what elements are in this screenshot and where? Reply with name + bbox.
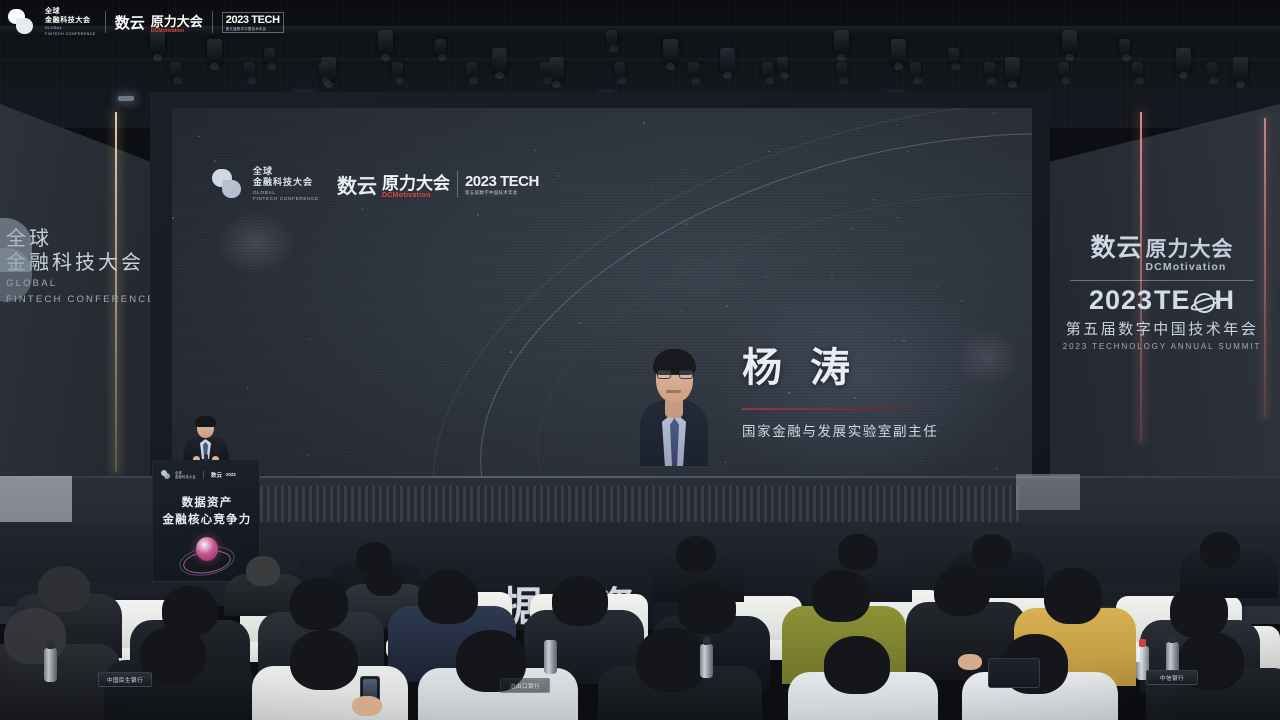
attendee-head bbox=[678, 582, 736, 634]
right-wall-en-summit: 2023 TECHNOLOGY ANNUAL SUMMIT bbox=[1062, 342, 1262, 351]
right-wall-dcmotivation: DCMotivation bbox=[1146, 261, 1234, 273]
right-wall-logo: 数云 原力大会 DCMotivation 2023 TE H 第五届数字中国技术… bbox=[1062, 228, 1262, 351]
attendee-head bbox=[838, 534, 878, 570]
stage-light-fixture bbox=[466, 62, 477, 79]
fintech-conference-mark-icon bbox=[212, 169, 246, 199]
thermos-bottle bbox=[44, 648, 57, 682]
stage-light-fixture bbox=[207, 39, 222, 65]
attendee-head bbox=[290, 630, 358, 690]
screen-yuanli: 原力大会 bbox=[382, 169, 450, 194]
stage-light-fixture bbox=[378, 30, 393, 56]
wall-light-strip-far-right bbox=[1264, 118, 1266, 418]
stage-light-fixture bbox=[834, 30, 849, 56]
screen-gfc-cn1: 全球 bbox=[253, 166, 319, 177]
thermos-bottle bbox=[700, 644, 713, 678]
attendee-head bbox=[552, 576, 608, 626]
stage-light-fixture bbox=[1005, 57, 1020, 83]
screen-year-sub: 第五届数字中国技术年会 bbox=[465, 190, 539, 196]
right-wall-tech-te: TE bbox=[1154, 287, 1191, 314]
seat-name-card: 中信银行 bbox=[1146, 670, 1198, 685]
hand bbox=[352, 696, 382, 716]
stage-light-fixture bbox=[762, 62, 773, 79]
ceiling-spot-light bbox=[118, 96, 134, 101]
conference-stage-scene: 全球 金融科技大会 GLOBAL FINTECH CONFERENCE 数云 原… bbox=[0, 0, 1280, 720]
podium-title: 数据资产 金融核心竞争力 bbox=[153, 495, 260, 530]
watermark-left-text: 全球 金融科技大会 GLOBAL FINTECH CONFERENCE bbox=[45, 7, 96, 37]
stage-light-fixture bbox=[1062, 30, 1077, 56]
glasses-icon bbox=[657, 370, 693, 379]
podium-logo: 全球 金融科技大会 数云 2023 bbox=[161, 470, 236, 479]
speaker-name-rule bbox=[742, 408, 930, 410]
seat-name-card-label: 中信银行 bbox=[1160, 674, 1184, 682]
screen-logo-fintech: 全球 金融科技大会 GLOBAL FINTECH CONFERENCE bbox=[212, 166, 319, 202]
watermark-en-line2: FINTECH CONFERENCE bbox=[45, 32, 96, 37]
right-wall-divider bbox=[1070, 280, 1254, 281]
stage-light-fixture bbox=[984, 62, 995, 79]
stage-light-fixture bbox=[1176, 48, 1191, 74]
right-wall-yuanli: 原力大会 bbox=[1146, 238, 1234, 261]
right-wall-cn-summit: 第五届数字中国技术年会 bbox=[1062, 318, 1262, 339]
attendee-head bbox=[38, 566, 90, 612]
attendee-head bbox=[1200, 532, 1240, 568]
stage-light-fixture bbox=[170, 62, 181, 79]
stage-light-fixture bbox=[1058, 62, 1069, 79]
stage-light-fixture bbox=[891, 39, 906, 65]
speaker-portrait bbox=[638, 338, 710, 466]
presenter-figure bbox=[184, 418, 228, 466]
stage-light-fixture bbox=[435, 39, 446, 56]
screen-year: 2023 TECH bbox=[465, 173, 539, 190]
broadcast-watermark: 全球 金融科技大会 GLOBAL FINTECH CONFERENCE 数云 原… bbox=[8, 6, 284, 38]
main-led-screen: 全球 金融科技大会 GLOBAL FINTECH CONFERENCE 数云 原… bbox=[172, 108, 1032, 493]
podium-logo-cn: 全球 金融科技大会 bbox=[175, 471, 196, 479]
watermark-year-box: 2023 TECH 第五届数字中国技术年会 bbox=[222, 12, 284, 33]
stage-light-fixture bbox=[1206, 62, 1217, 79]
stage-light-fixture bbox=[1132, 62, 1143, 79]
watermark-en-line1: GLOBAL bbox=[45, 26, 96, 31]
thermos-bottle bbox=[544, 640, 557, 674]
hand bbox=[958, 654, 982, 670]
globe-e-icon bbox=[1192, 291, 1214, 311]
podium-title-line2: 金融核心竞争力 bbox=[153, 512, 260, 529]
attendee-head bbox=[636, 628, 708, 692]
stage-light-fixture bbox=[663, 39, 678, 65]
watermark-year-sub: 第五届数字中国技术年会 bbox=[226, 26, 280, 31]
stage-light-fixture bbox=[910, 62, 921, 79]
screen-gfc-en1: GLOBAL bbox=[253, 190, 319, 196]
stage-light-fixture bbox=[777, 57, 788, 74]
audience-area: 中国民生银行 进出口银行 中信银行 bbox=[0, 548, 1280, 720]
screen-shuyun: 数云 bbox=[337, 170, 377, 199]
wall-panel-right bbox=[1016, 474, 1080, 510]
stage-light-fixture bbox=[720, 48, 735, 74]
fintech-conference-mark-icon bbox=[0, 218, 36, 310]
attendee-head bbox=[366, 564, 402, 596]
attendee-head bbox=[972, 534, 1012, 570]
watermark-cn-line1: 全球 bbox=[45, 7, 96, 16]
attendee-head bbox=[418, 570, 478, 624]
attendee-head bbox=[824, 636, 890, 694]
watermark-yuanli: 原力大会 bbox=[151, 11, 203, 30]
laptop[interactable] bbox=[988, 658, 1040, 688]
stage-light-fixture bbox=[492, 48, 507, 74]
watermark-divider-2 bbox=[212, 11, 213, 33]
attendee-head bbox=[1170, 584, 1228, 638]
stage-light-fixture bbox=[836, 62, 847, 79]
attendee-head bbox=[934, 566, 990, 616]
screen-gfc-cn2: 金融科技大会 bbox=[253, 177, 319, 188]
stage-light-fixture bbox=[606, 30, 617, 47]
speaker-name: 杨涛 bbox=[742, 348, 1002, 388]
speaker-name-block: 杨涛 国家金融与发展实验室副主任 bbox=[742, 348, 1002, 440]
stage-light-fixture bbox=[1233, 57, 1248, 83]
watermark-shuyun: 数云 bbox=[115, 12, 145, 33]
speaker-title: 国家金融与发展实验室副主任 bbox=[742, 420, 1002, 440]
stage-louver-panel bbox=[260, 486, 1020, 526]
attendee-head bbox=[812, 570, 870, 622]
fintech-conference-mark-icon bbox=[8, 9, 36, 35]
screen-logo-dcmotivation: 数云 原力大会 DCMotivation 2023 TECH 第五届数字中国技术… bbox=[337, 169, 539, 199]
right-wall-year: 2023 bbox=[1089, 287, 1153, 314]
stage-light-fixture bbox=[614, 62, 625, 79]
stage-light-fixture bbox=[264, 48, 275, 65]
seat-name-card: 进出口银行 bbox=[500, 678, 550, 693]
attendee-head bbox=[676, 536, 716, 572]
watermark-cn-line2: 金融科技大会 bbox=[45, 16, 96, 25]
screen-header-logos: 全球 金融科技大会 GLOBAL FINTECH CONFERENCE 数云 原… bbox=[212, 166, 539, 202]
stage-light-fixture bbox=[1119, 39, 1130, 56]
screen-logo-divider bbox=[457, 171, 458, 197]
attendee-head bbox=[1044, 568, 1102, 624]
watermark-year: 2023 TECH bbox=[226, 14, 280, 26]
podium-logo-shuyun: 数云 bbox=[211, 471, 222, 479]
seat-name-card-label: 进出口银行 bbox=[510, 682, 540, 690]
podium-logo-year: 2023 bbox=[226, 472, 236, 477]
screen-gfc-en2: FINTECH CONFERENCE bbox=[253, 196, 319, 202]
stage-light-fixture bbox=[244, 62, 255, 79]
stage-light-fixture bbox=[318, 62, 329, 79]
right-wall-shuyun: 数云 bbox=[1090, 228, 1142, 264]
stage-light-fixture bbox=[392, 62, 403, 79]
watermark-divider bbox=[105, 11, 106, 33]
attendee-head bbox=[290, 578, 348, 630]
seat-name-card-label: 中国民生银行 bbox=[107, 676, 143, 684]
attendee-head bbox=[246, 556, 280, 586]
stage-light-fixture bbox=[540, 62, 551, 79]
stage-light-fixture bbox=[688, 62, 699, 79]
lighting-truss-rear bbox=[0, 58, 1280, 64]
stage-light-fixture bbox=[948, 48, 959, 65]
podium-title-line1: 数据资产 bbox=[153, 495, 260, 512]
fintech-conference-mark-icon bbox=[161, 470, 171, 479]
seat-name-card: 中国民生银行 bbox=[98, 672, 152, 687]
